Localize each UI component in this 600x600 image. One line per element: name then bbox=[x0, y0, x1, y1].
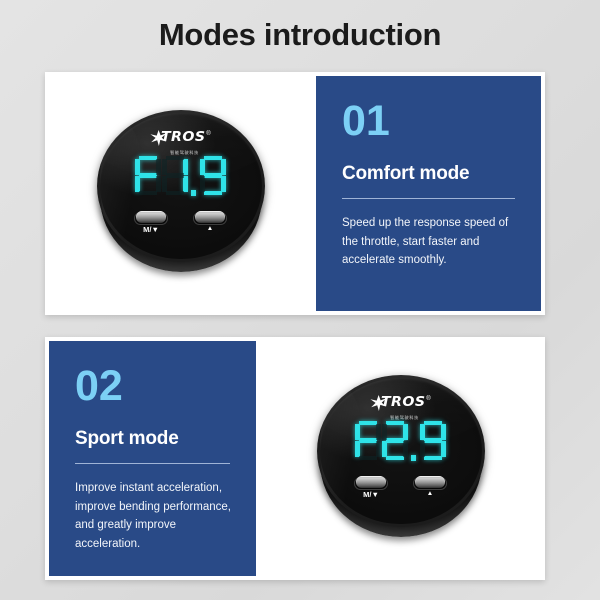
step-number-2: 02 bbox=[75, 365, 234, 408]
seven-segment-display-2 bbox=[317, 421, 485, 461]
up-button-label: ▲ bbox=[427, 491, 433, 498]
registered-trademark-icon: ® bbox=[426, 396, 430, 402]
registered-trademark-icon: ® bbox=[206, 131, 210, 137]
brand-logo: TROS ® 智能驾驶科技 bbox=[97, 131, 265, 156]
throttle-controller-device-1[interactable]: TROS ® 智能驾驶科技 bbox=[97, 110, 265, 278]
device-area-1: TROS ® 智能驾驶科技 bbox=[45, 72, 316, 315]
seg-char-2 bbox=[382, 421, 408, 461]
divider-2 bbox=[75, 463, 230, 464]
device-buttons-1: M/▼ ▲ bbox=[97, 211, 265, 234]
up-button[interactable] bbox=[415, 476, 445, 488]
brand-name: TROS bbox=[381, 396, 426, 410]
device-area-2: TROS ® 智能驾驶科技 bbox=[256, 337, 545, 580]
seg-char-9 bbox=[420, 421, 446, 461]
product-infographic: Modes introduction bbox=[0, 0, 600, 600]
mode-down-button[interactable] bbox=[136, 211, 166, 223]
mode-description-1: Speed up the response speed of the throt… bbox=[342, 214, 519, 270]
seg-char-dot bbox=[409, 421, 419, 461]
brand-name: TROS bbox=[161, 131, 206, 145]
seg-char-dot bbox=[189, 156, 199, 196]
seg-char-1 bbox=[162, 156, 188, 196]
step-number-1: 01 bbox=[342, 100, 519, 143]
seg-char-F bbox=[135, 156, 161, 196]
mode-title-2: Sport mode bbox=[75, 428, 234, 450]
device-buttons-2: M/▼ ▲ bbox=[317, 476, 485, 499]
throttle-controller-device-2[interactable]: TROS ® 智能驾驶科技 bbox=[317, 375, 485, 543]
mode-title-1: Comfort mode bbox=[342, 163, 519, 185]
device-face: TROS ® 智能驾驶科技 bbox=[97, 110, 265, 262]
device-face: TROS ® 智能驾驶科技 bbox=[317, 375, 485, 527]
mode-panel-1: TROS ® 智能驾驶科技 bbox=[45, 72, 545, 315]
mode-description-2: Improve instant acceleration, improve be… bbox=[75, 479, 234, 554]
seven-segment-display-1 bbox=[97, 156, 265, 196]
mode-down-button-label: M/▼ bbox=[143, 226, 159, 234]
mode-info-1: 01 Comfort mode Speed up the response sp… bbox=[316, 72, 545, 315]
page-title: Modes introduction bbox=[0, 17, 600, 53]
seg-char-9 bbox=[200, 156, 226, 196]
mode-info-2: 02 Sport mode Improve instant accelerati… bbox=[45, 337, 256, 580]
mode-down-button-label: M/▼ bbox=[363, 491, 379, 499]
mode-down-button[interactable] bbox=[356, 476, 386, 488]
divider-1 bbox=[342, 198, 515, 199]
brand-logo: TROS ® 智能驾驶科技 bbox=[317, 396, 485, 421]
mode-panel-2: 02 Sport mode Improve instant accelerati… bbox=[45, 337, 545, 580]
up-button-label: ▲ bbox=[207, 226, 213, 233]
seg-char-F bbox=[355, 421, 381, 461]
up-button[interactable] bbox=[195, 211, 225, 223]
